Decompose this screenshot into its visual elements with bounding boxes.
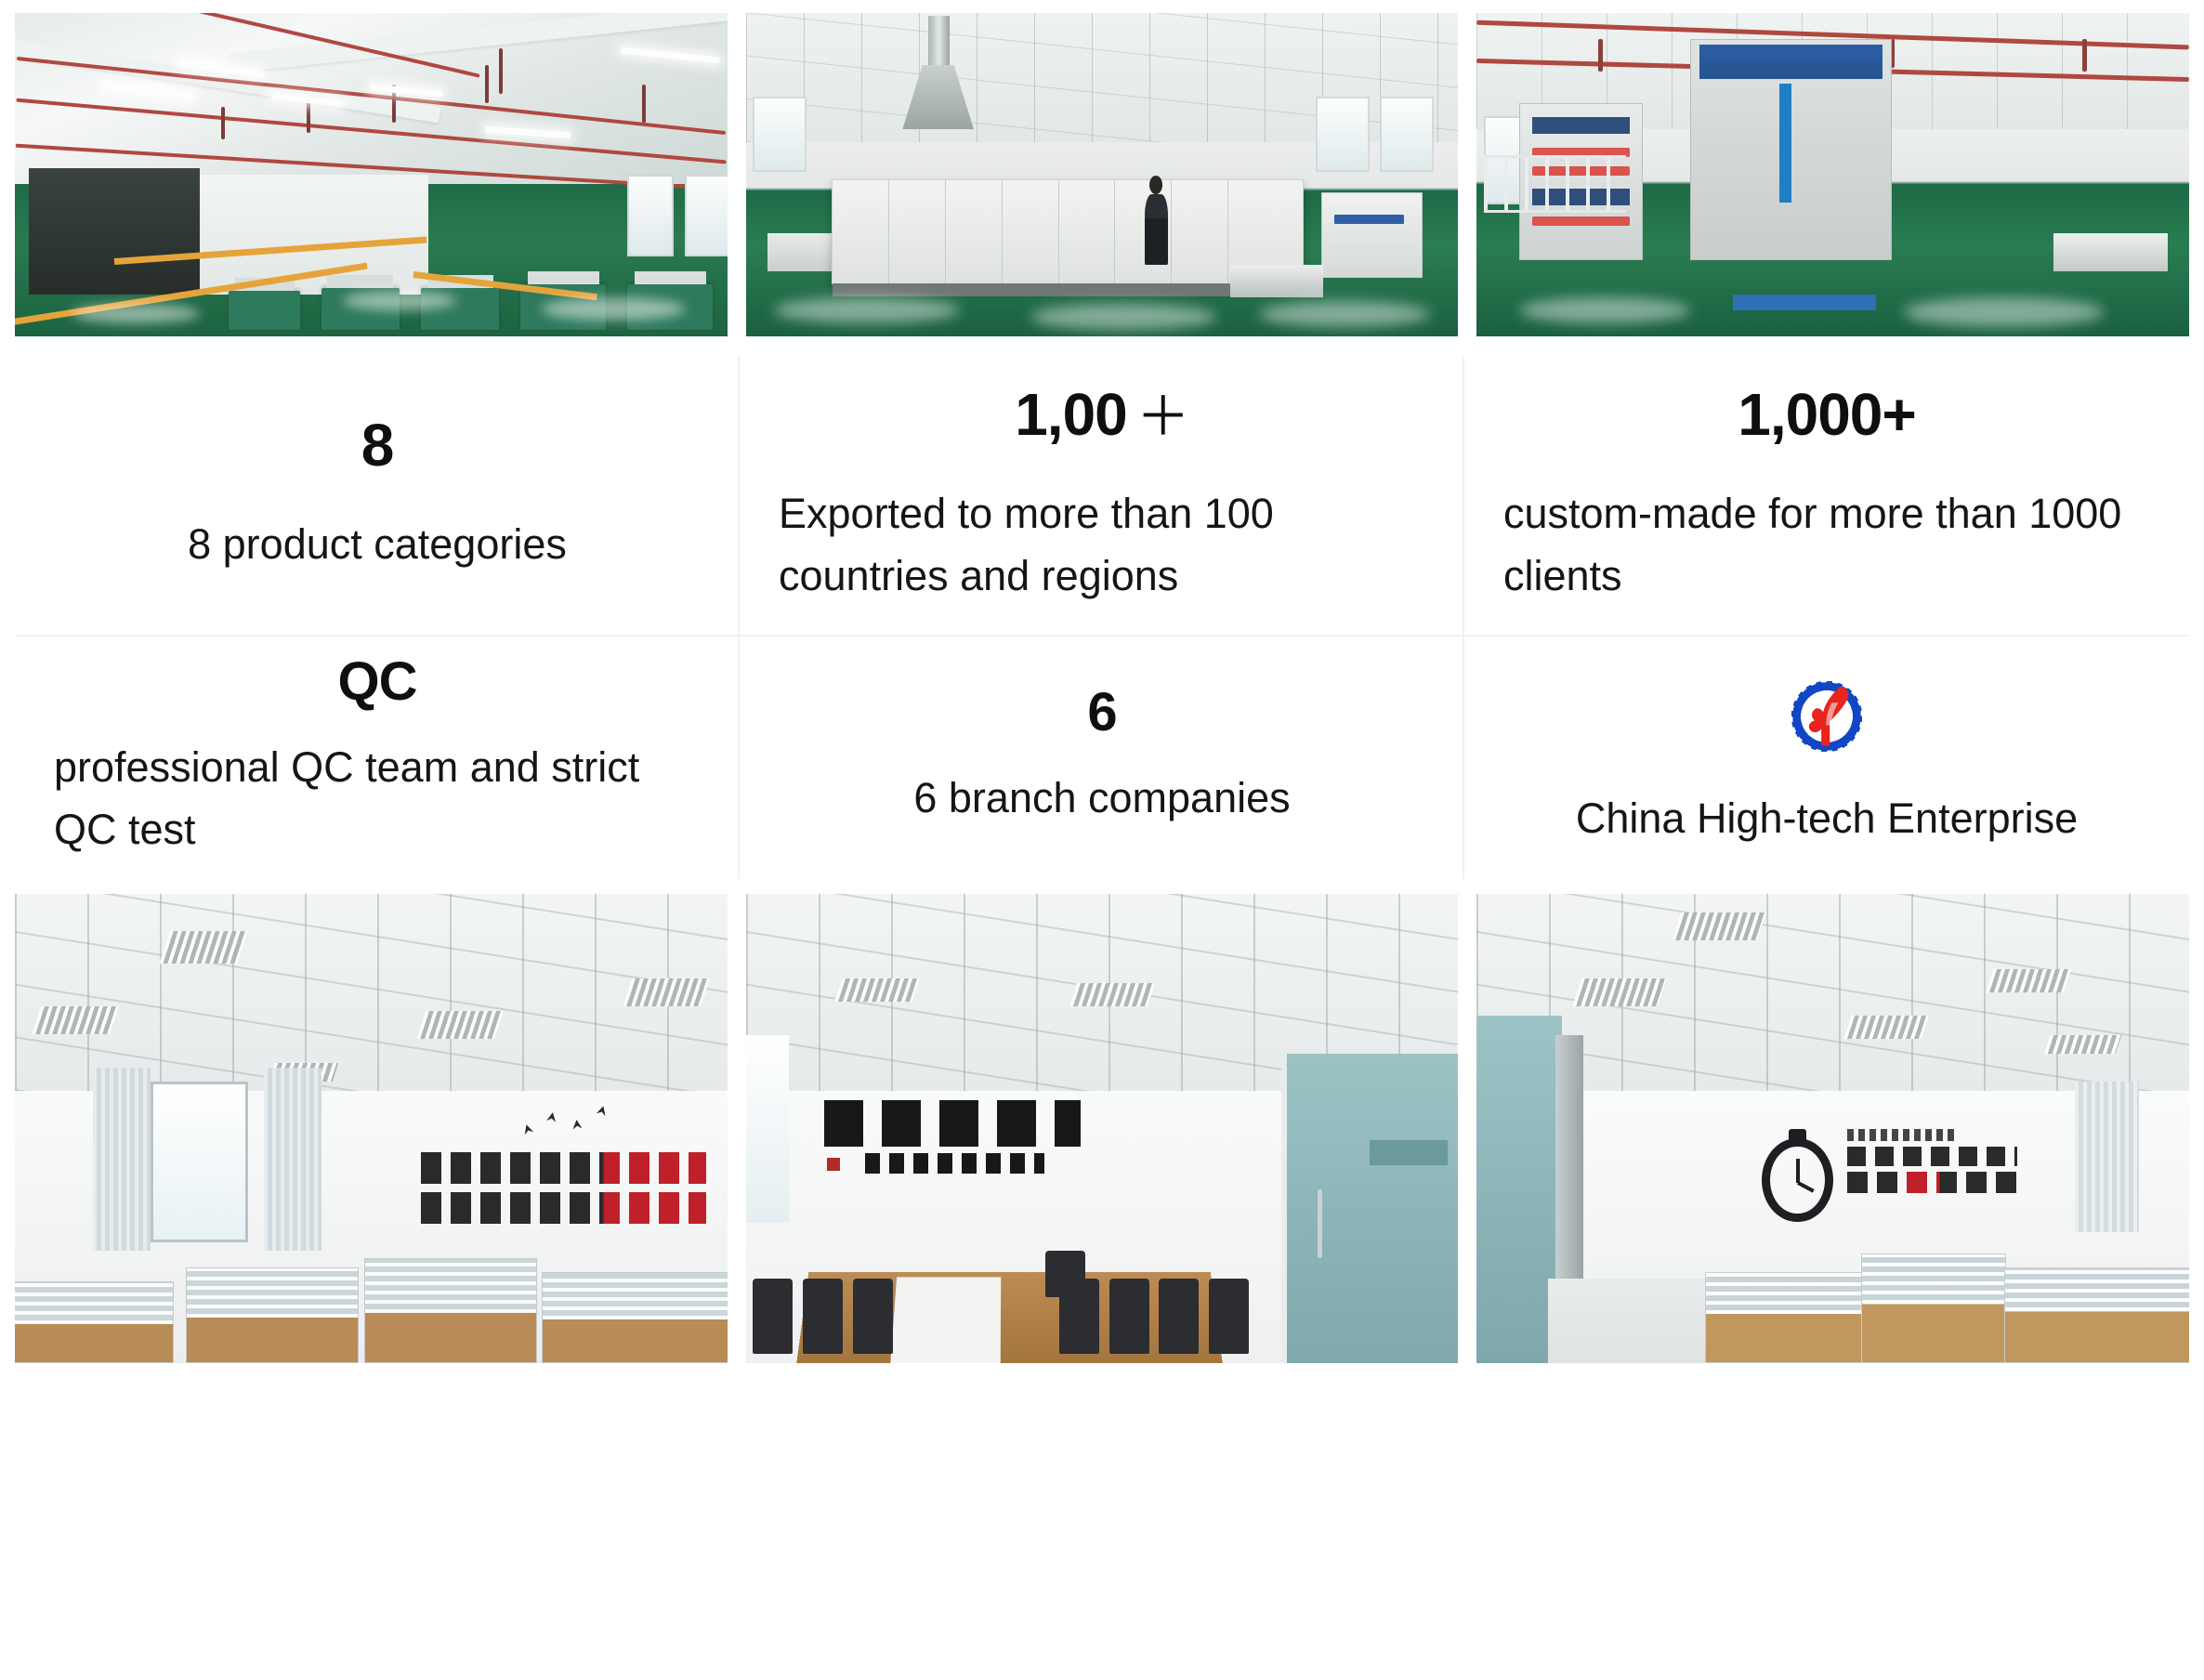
window-curtain xyxy=(264,1068,321,1251)
work-table xyxy=(2053,233,2168,272)
chair xyxy=(803,1279,843,1354)
window-curtain xyxy=(93,1068,150,1251)
stat-cell-product-categories: 8 8 product categories xyxy=(15,357,740,637)
door-glass-lettering xyxy=(1370,1140,1449,1165)
window xyxy=(753,97,807,172)
chair xyxy=(853,1279,893,1354)
ceiling-light xyxy=(834,978,921,1002)
window xyxy=(1380,97,1434,172)
glass-partition-door xyxy=(1281,1054,1458,1363)
company-stats-grid: 8 8 product categories 1,00＋ Exported to… xyxy=(15,357,2189,879)
mixing-machine xyxy=(1690,39,1892,261)
cubicle-partition xyxy=(1705,1272,1864,1363)
wall-slogan-decal xyxy=(1847,1129,2032,1200)
cubicle-partition xyxy=(542,1272,727,1363)
floor-reflection xyxy=(1259,301,1430,327)
ceiling-light xyxy=(2043,1035,2120,1054)
office-photo-gallery-bottom xyxy=(15,894,2189,1363)
mixing-equipment-photo[interactable] xyxy=(1476,13,2189,336)
seal-stamp xyxy=(827,1158,840,1171)
cubicle-partition xyxy=(15,1281,174,1363)
ceiling-light xyxy=(1069,983,1156,1006)
stat-number: 1,000+ xyxy=(1738,385,1916,444)
window xyxy=(627,175,674,256)
stat-description: professional QC team and strict QC test xyxy=(54,737,701,860)
stat-description: custom-made for more than 1000 clients xyxy=(1503,483,2150,607)
ceiling-light xyxy=(1572,978,1667,1006)
stopwatch-icon xyxy=(1762,1138,1833,1223)
stat-number-value: 1,00 xyxy=(1015,381,1127,448)
open-office-photo[interactable] xyxy=(15,894,728,1363)
floor-reflection xyxy=(1030,304,1215,330)
safety-railing xyxy=(1484,155,1626,213)
tunnel-oven-line-photo[interactable] xyxy=(746,13,1459,336)
wall-slogan-decal xyxy=(421,1152,706,1227)
window xyxy=(746,1035,789,1223)
sprinkler-drop xyxy=(307,100,310,133)
ceiling-light xyxy=(1843,1016,1930,1039)
stat-description: China High-tech Enterprise xyxy=(1576,789,2078,847)
ceiling-light xyxy=(32,1006,119,1034)
ceiling-light xyxy=(1672,912,1766,940)
plus-sign: ＋ xyxy=(1127,387,1189,447)
sprinkler-drop xyxy=(642,85,646,124)
stat-description: 6 branch companies xyxy=(913,768,1290,830)
sprinkler-drop xyxy=(2082,39,2087,72)
sprinkler-drop xyxy=(485,65,489,104)
stat-cell-countries-exported: 1,00＋ Exported to more than 100 countrie… xyxy=(740,357,1464,637)
ceiling-light xyxy=(416,1011,504,1039)
sprinkler-drop xyxy=(1598,39,1603,72)
factory-photo-gallery-top xyxy=(15,13,2189,336)
blue-pallet xyxy=(1733,295,1875,310)
chair xyxy=(1159,1279,1199,1354)
office-time-slogan-photo[interactable] xyxy=(1476,894,2189,1363)
stat-description: Exported to more than 100 countries and … xyxy=(779,483,1425,607)
sprinkler-drop xyxy=(221,107,225,139)
sinovo-machine xyxy=(1321,192,1423,278)
floor-reflection xyxy=(72,304,200,323)
door-handle[interactable] xyxy=(1318,1189,1322,1257)
meeting-room-photo[interactable] xyxy=(746,894,1459,1363)
ceiling-light xyxy=(623,978,710,1006)
stat-description: 8 product categories xyxy=(188,514,567,576)
production-machine xyxy=(229,291,300,330)
stat-number: 1,00＋ xyxy=(1015,385,1189,444)
cubicle-partition xyxy=(2004,1267,2189,1363)
cubicle-partition xyxy=(186,1267,359,1363)
stat-number: QC xyxy=(338,655,417,709)
calligraphy-wall-art xyxy=(824,1100,1081,1180)
cubicle-partition xyxy=(1861,1253,2005,1363)
stat-cell-branch-companies: 6 6 branch companies xyxy=(740,637,1464,879)
chair xyxy=(1059,1279,1099,1354)
floor-reflection xyxy=(1904,297,2104,326)
stat-cell-custom-made-clients: 1,000+ custom-made for more than 1000 cl… xyxy=(1464,357,2189,637)
floor-reflection xyxy=(1519,297,1690,323)
cubicle-partition xyxy=(364,1258,537,1363)
ceiling-light xyxy=(1986,969,2072,992)
ceiling-light xyxy=(159,931,248,964)
worker xyxy=(1145,194,1168,266)
stat-number: 8 xyxy=(361,415,394,475)
window xyxy=(685,175,728,256)
dark-wall-section xyxy=(29,168,200,295)
flame-torch-icon xyxy=(1800,684,1859,750)
suspended-ceiling xyxy=(15,894,728,1091)
company-profile-page: 8 8 product categories 1,00＋ Exported to… xyxy=(0,0,2204,1680)
factory-workshop-photo[interactable] xyxy=(15,13,728,336)
stat-cell-high-tech-enterprise: China High-tech Enterprise xyxy=(1464,637,2189,879)
sprinkler-drop xyxy=(499,48,503,94)
stat-cell-qc-team: QC professional QC team and strict QC te… xyxy=(15,637,740,879)
bird-decals xyxy=(514,1100,628,1142)
window-curtain xyxy=(2075,1082,2139,1232)
window xyxy=(151,1082,249,1242)
exhaust-duct xyxy=(928,16,950,68)
china-high-tech-enterprise-logo xyxy=(1778,668,1875,765)
work-table xyxy=(1230,265,1323,297)
chair xyxy=(753,1279,793,1354)
floor-reflection xyxy=(542,297,684,320)
stat-number: 6 xyxy=(1087,686,1116,740)
window xyxy=(1316,97,1370,172)
chair xyxy=(1109,1279,1149,1354)
chair xyxy=(1209,1279,1249,1354)
floor-reflection xyxy=(774,297,959,323)
